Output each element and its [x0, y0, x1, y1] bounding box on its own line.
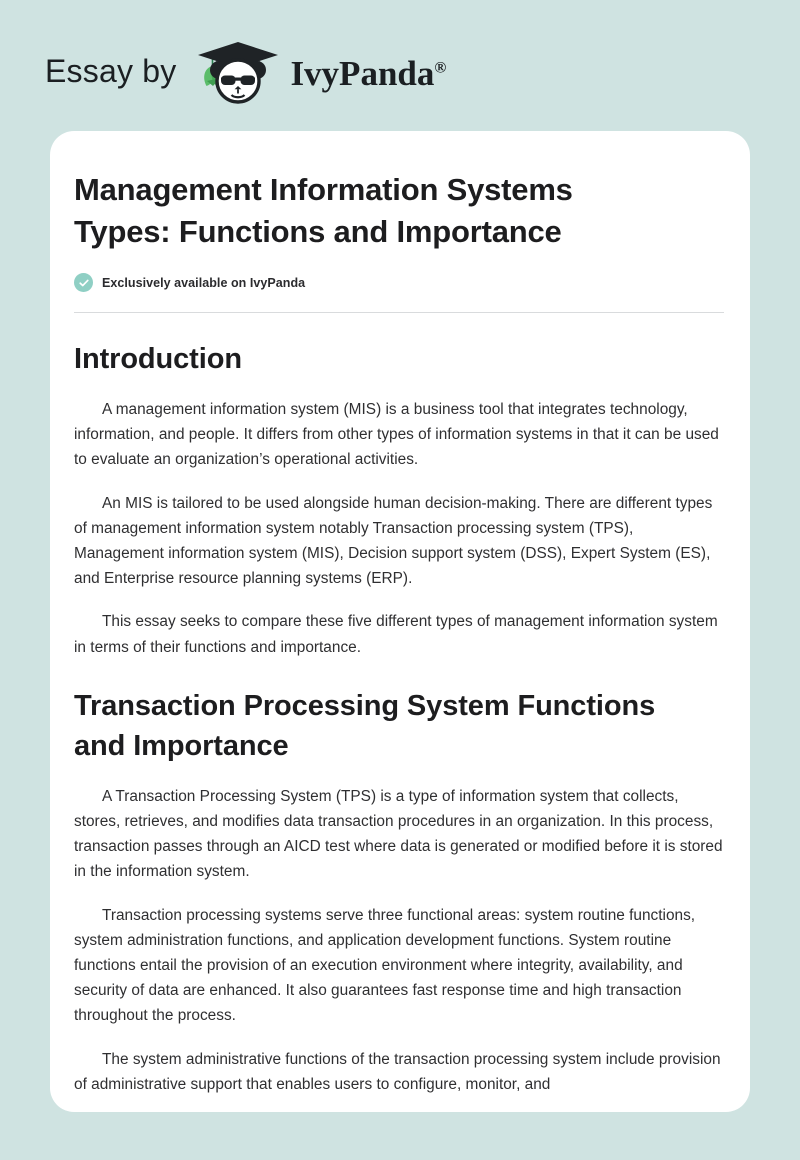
registered-mark: ®	[434, 59, 446, 76]
paragraph: The system administrative functions of t…	[74, 1047, 724, 1097]
panda-graduate-logo-icon	[190, 38, 286, 104]
header-divider	[74, 312, 724, 313]
page-root: Essay by	[0, 0, 800, 1160]
paragraph: An MIS is tailored to be used alongside …	[74, 491, 724, 592]
document-inner: Management Information Systems Types: Fu…	[50, 131, 750, 1097]
paragraph: This essay seeks to compare these five d…	[74, 609, 724, 659]
brand-name-label: IvyPanda®	[290, 56, 446, 91]
check-circle-icon	[74, 273, 93, 292]
brand-prefix-label: Essay by	[45, 55, 176, 87]
page-title: Management Information Systems Types: Fu…	[74, 169, 674, 253]
brand-name-text: IvyPanda	[290, 54, 434, 93]
document-card: Management Information Systems Types: Fu…	[50, 131, 750, 1112]
section-heading-introduction: Introduction	[74, 339, 694, 379]
paragraph: A Transaction Processing System (TPS) is…	[74, 784, 724, 885]
status-badge: Exclusively available on IvyPanda	[74, 273, 724, 292]
paragraph: A management information system (MIS) is…	[74, 397, 724, 473]
brand-header: Essay by	[45, 38, 446, 104]
section-heading-transaction-processing-system: Transaction Processing System Functions …	[74, 686, 694, 766]
status-badge-label: Exclusively available on IvyPanda	[102, 276, 305, 290]
paragraph: Transaction processing systems serve thr…	[74, 903, 724, 1029]
